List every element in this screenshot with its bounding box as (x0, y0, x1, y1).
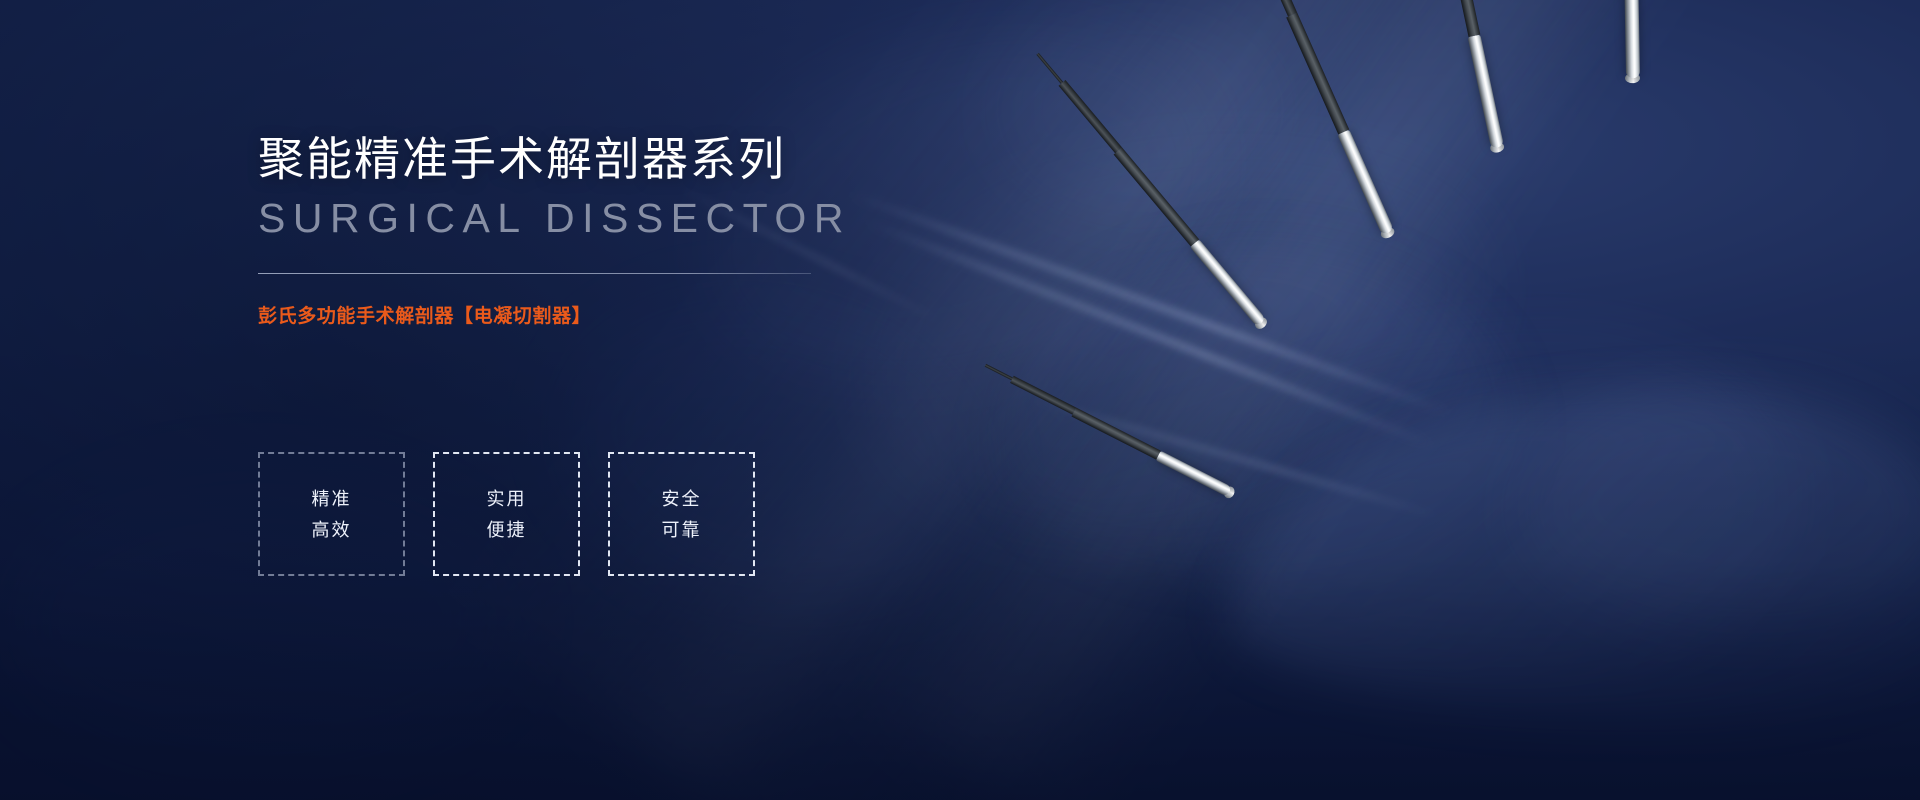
feature-line-1: 精准 (312, 490, 352, 508)
feature-box-group: 精准 高效 实用 便捷 安全 可靠 (258, 452, 755, 576)
feature-line-1: 实用 (487, 490, 527, 508)
feature-box-safety[interactable]: 安全 可靠 (608, 452, 755, 576)
feature-line-2: 高效 (312, 521, 352, 539)
background-vignette (0, 0, 1920, 800)
page-title: 聚能精准手术解剖器系列 (258, 134, 978, 186)
feature-line-2: 便捷 (487, 521, 527, 539)
feature-box-precision[interactable]: 精准 高效 (258, 452, 405, 576)
feature-line-2: 可靠 (662, 521, 702, 539)
divider (258, 273, 811, 274)
feature-box-practical[interactable]: 实用 便捷 (433, 452, 580, 576)
banner-copy: 聚能精准手术解剖器系列 SURGICAL DISSECTOR 彭氏多功能手术解剖… (258, 134, 978, 328)
feature-line-1: 安全 (662, 490, 702, 508)
hero-banner: 聚能精准手术解剖器系列 SURGICAL DISSECTOR 彭氏多功能手术解剖… (0, 0, 1920, 800)
page-title-english: SURGICAL DISSECTOR (258, 196, 978, 241)
product-subtitle: 彭氏多功能手术解剖器【电凝切割器】 (258, 301, 978, 328)
